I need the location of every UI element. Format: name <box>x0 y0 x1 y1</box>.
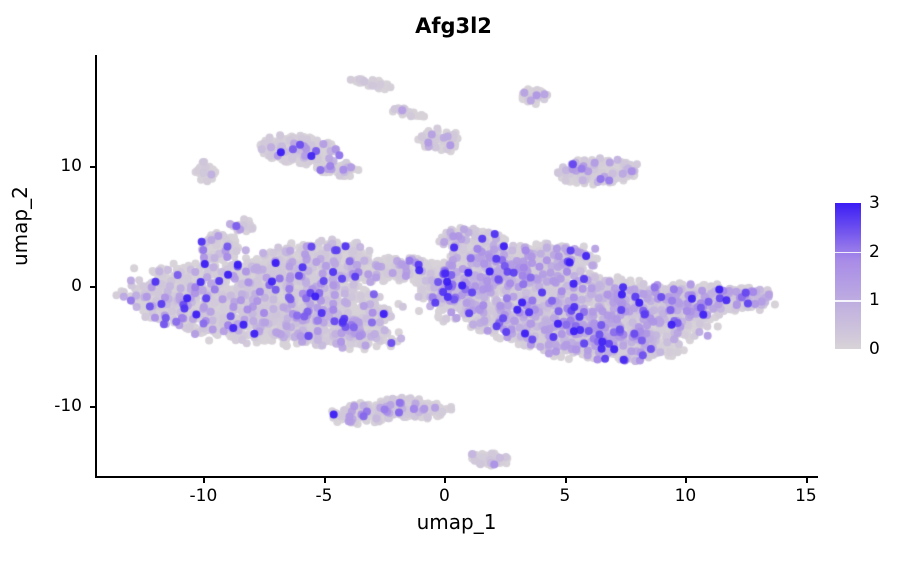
x-tick-mark <box>806 478 808 483</box>
y-axis-label: umap_2 <box>8 186 32 266</box>
page-title: Afg3l2 <box>0 14 909 38</box>
y-tick-label: 10 <box>60 156 82 176</box>
x-tick-label: 10 <box>675 486 697 506</box>
x-tick-label: -5 <box>315 486 332 506</box>
colorbar-tick-label: 3 <box>869 193 880 213</box>
colorbar-gradient <box>835 203 861 349</box>
colorbar-tick-label: 2 <box>869 242 880 262</box>
colorbar-tick-mark <box>835 300 861 302</box>
x-axis-label: umap_1 <box>95 510 818 534</box>
x-tick-mark <box>324 478 326 483</box>
y-tick-label: -10 <box>54 396 82 416</box>
x-tick-mark <box>565 478 567 483</box>
umap-figure: Afg3l2 -10-5051015 -10010 umap_1 umap_2 … <box>0 0 911 562</box>
plot-axes: -10-5051015 -10010 <box>95 55 818 478</box>
y-tick-mark <box>90 286 95 288</box>
x-tick-label: 0 <box>439 486 450 506</box>
scatter-plot-canvas <box>95 55 818 478</box>
colorbar-tick-mark <box>835 252 861 254</box>
x-tick-label: -10 <box>190 486 218 506</box>
x-tick-label: 15 <box>795 486 817 506</box>
y-tick-mark <box>90 166 95 168</box>
colorbar-tick-label: 1 <box>869 290 880 310</box>
colorbar-tick-label: 0 <box>869 339 880 359</box>
x-tick-mark <box>203 478 205 483</box>
x-tick-label: 5 <box>560 486 571 506</box>
colorbar-legend <box>835 203 861 349</box>
x-tick-mark <box>685 478 687 483</box>
axis-spine-left <box>95 55 97 478</box>
y-tick-label: 0 <box>71 276 82 296</box>
y-tick-mark <box>90 406 95 408</box>
x-tick-mark <box>444 478 446 483</box>
